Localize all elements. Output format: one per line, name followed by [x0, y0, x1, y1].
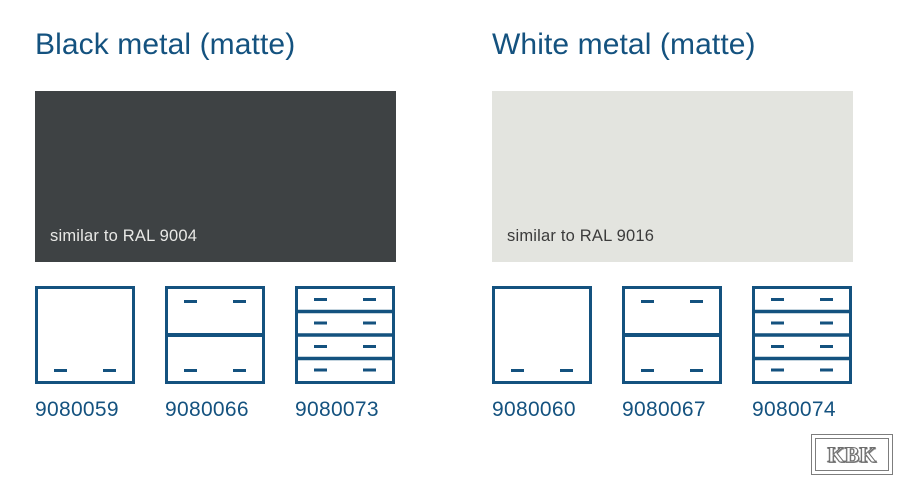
column-title: White metal (matte)	[492, 28, 756, 61]
cabinet-0-drawer-icon	[492, 286, 592, 384]
cabinet-4-drawer-icon	[295, 286, 395, 384]
product-icon-row	[492, 286, 853, 386]
color-swatch: similar to RAL 9016	[492, 91, 853, 262]
color-column-white: White metal (matte) similar to RAL 9016	[492, 0, 900, 480]
product-icon-2-drawer[interactable]	[165, 286, 265, 384]
article-number: 9080067	[622, 398, 706, 422]
article-number-row: 9080059 9080066 9080073	[35, 398, 435, 428]
color-swatch: similar to RAL 9004	[35, 91, 396, 262]
product-icon-row	[35, 286, 396, 386]
product-icon-0-drawer[interactable]	[492, 286, 592, 384]
kbk-logo-text: KBK	[828, 444, 877, 466]
article-number: 9080059	[35, 398, 119, 422]
kbk-logo: KBK	[811, 434, 893, 475]
cabinet-2-drawer-icon	[165, 286, 265, 384]
cabinet-4-drawer-icon	[752, 286, 852, 384]
product-icon-0-drawer[interactable]	[35, 286, 135, 384]
article-number: 9080060	[492, 398, 576, 422]
article-number: 9080066	[165, 398, 249, 422]
cabinet-2-drawer-icon	[622, 286, 722, 384]
column-title: Black metal (matte)	[35, 28, 295, 61]
swatch-caption: similar to RAL 9016	[507, 227, 654, 246]
product-icon-4-drawer[interactable]	[752, 286, 852, 384]
swatch-caption: similar to RAL 9004	[50, 227, 197, 246]
product-icon-2-drawer[interactable]	[622, 286, 722, 384]
article-number-row: 9080060 9080067 9080074	[492, 398, 892, 428]
cabinet-0-drawer-icon	[35, 286, 135, 384]
article-number: 9080074	[752, 398, 836, 422]
product-icon-4-drawer[interactable]	[295, 286, 395, 384]
article-number: 9080073	[295, 398, 379, 422]
color-column-black: Black metal (matte) similar to RAL 9004	[35, 0, 465, 480]
kbk-logo-frame: KBK	[815, 438, 889, 471]
color-options-sheet: Black metal (matte) similar to RAL 9004	[0, 0, 900, 480]
